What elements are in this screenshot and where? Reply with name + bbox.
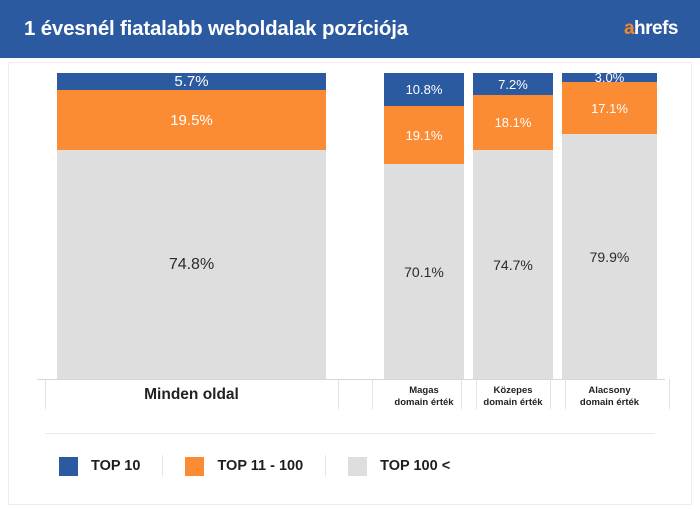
bar-segment[interactable]: 19.5% <box>57 90 326 150</box>
bar-segment-value-label: 19.5% <box>170 112 213 129</box>
legend-swatch-top11-100 <box>185 457 204 476</box>
chart-page: 1 évesnél fiatalabb weboldalak pozíciója… <box>0 0 700 513</box>
category-label-line: Közepes <box>473 385 553 397</box>
bar-segment[interactable]: 74.8% <box>57 150 326 379</box>
stacked-bar[interactable]: 5.7%19.5%74.8% <box>57 73 326 379</box>
header-bar: 1 évesnél fiatalabb weboldalak pozíciója… <box>0 0 700 58</box>
axis-tick <box>45 379 46 409</box>
category-label-line: domain érték <box>384 397 464 409</box>
category-label-line: Magas <box>384 385 464 397</box>
legend-item[interactable]: TOP 11 - 100 <box>185 457 303 476</box>
bar-segment-value-label: 19.1% <box>406 128 443 143</box>
logo-wordmark: hrefs <box>634 18 678 39</box>
bar-segment-value-label: 18.1% <box>495 115 532 130</box>
stacked-bar[interactable]: 3.0%17.1%79.9% <box>562 73 657 379</box>
category-label-line: Minden oldal <box>57 385 326 404</box>
category-label: Alacsonydomain érték <box>562 385 657 409</box>
bar-segment-value-label: 74.7% <box>493 257 533 273</box>
legend-swatch-top100 <box>348 457 367 476</box>
axis-tick <box>338 379 339 409</box>
category-label-line: domain érték <box>562 397 657 409</box>
bar-segment[interactable]: 7.2% <box>473 73 553 95</box>
axis-tick <box>669 379 670 409</box>
bar-segment-value-label: 3.0% <box>595 73 625 82</box>
plot-area: 5.7%19.5%74.8%10.8%19.1%70.1%7.2%18.1%74… <box>9 63 691 423</box>
axis-tick <box>372 379 373 409</box>
legend-label: TOP 100 < <box>380 458 450 474</box>
bar-segment-value-label: 79.9% <box>590 249 630 265</box>
legend-swatch-top10 <box>59 457 78 476</box>
stacked-bar[interactable]: 7.2%18.1%74.7% <box>473 73 553 379</box>
legend-item[interactable]: TOP 100 < <box>348 457 450 476</box>
bar-segment[interactable]: 74.7% <box>473 150 553 379</box>
chart-legend: TOP 10TOP 11 - 100TOP 100 < <box>59 455 450 477</box>
bar-segment[interactable]: 79.9% <box>562 134 657 378</box>
legend-separator <box>325 455 326 477</box>
ahrefs-logo: ahrefs <box>624 18 678 40</box>
legend-item[interactable]: TOP 10 <box>59 457 140 476</box>
x-axis-line <box>37 379 665 380</box>
bar-segment[interactable]: 70.1% <box>384 164 464 379</box>
category-label: Magasdomain érték <box>384 385 464 409</box>
bar-segment[interactable]: 18.1% <box>473 95 553 150</box>
category-label: Közepesdomain érték <box>473 385 553 409</box>
logo-accent-letter: a <box>624 18 634 39</box>
bar-segment[interactable]: 5.7% <box>57 73 326 90</box>
chart-card: 5.7%19.5%74.8%10.8%19.1%70.1%7.2%18.1%74… <box>8 62 692 505</box>
legend-label: TOP 11 - 100 <box>217 458 303 474</box>
bar-segment-value-label: 70.1% <box>404 264 444 280</box>
legend-separator <box>162 455 163 477</box>
bar-segment-value-label: 17.1% <box>591 101 628 116</box>
bar-segment-value-label: 7.2% <box>498 77 528 92</box>
bar-segment-value-label: 74.8% <box>169 256 214 274</box>
bar-segment[interactable]: 17.1% <box>562 82 657 134</box>
stacked-bar[interactable]: 10.8%19.1%70.1% <box>384 73 464 379</box>
bar-segment[interactable]: 19.1% <box>384 106 464 164</box>
legend-label: TOP 10 <box>91 458 140 474</box>
category-label-line: domain érték <box>473 397 553 409</box>
bar-segment-value-label: 5.7% <box>174 73 208 90</box>
category-label: Minden oldal <box>57 385 326 404</box>
category-label-line: Alacsony <box>562 385 657 397</box>
bar-segment[interactable]: 10.8% <box>384 73 464 106</box>
legend-divider <box>45 433 655 434</box>
bar-segment-value-label: 10.8% <box>406 82 443 97</box>
bar-segment[interactable]: 3.0% <box>562 73 657 82</box>
page-title: 1 évesnél fiatalabb weboldalak pozíciója <box>24 17 408 41</box>
